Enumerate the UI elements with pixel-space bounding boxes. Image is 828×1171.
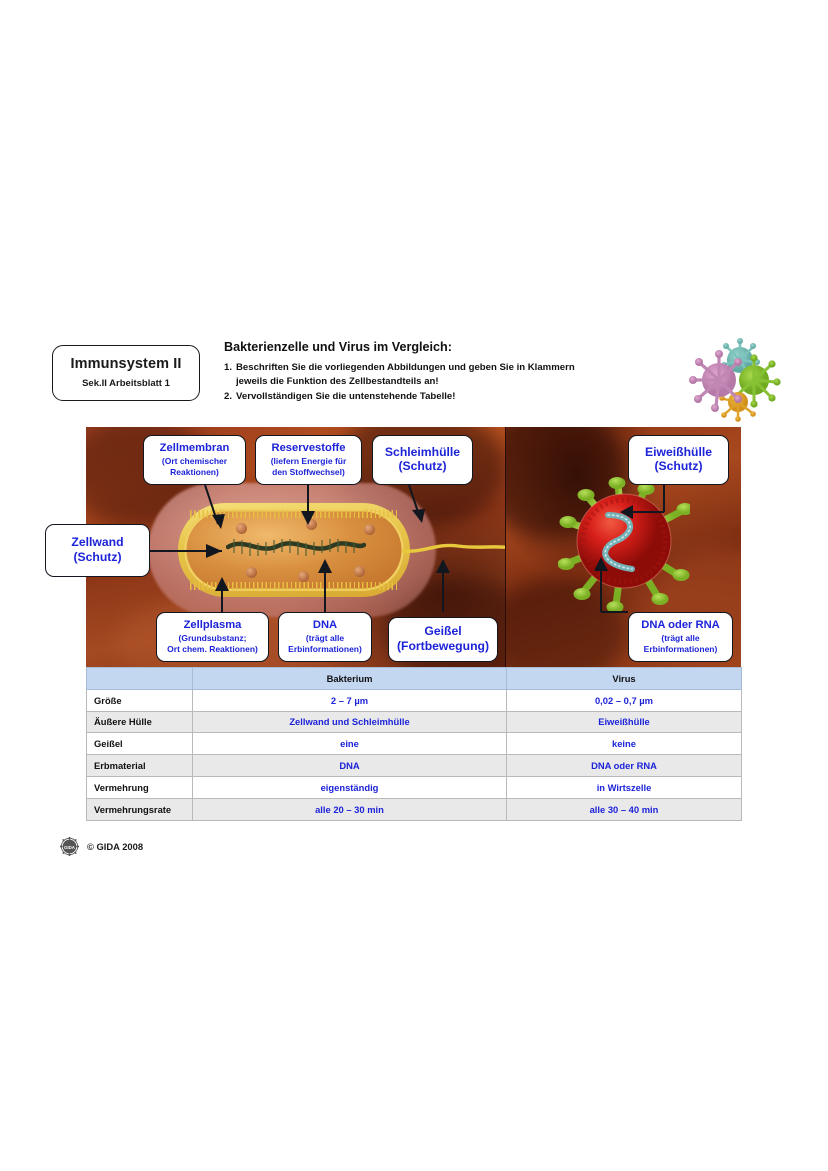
callout-zellmembran-sub1: (Ort chemischer: [162, 456, 227, 467]
cell-bakterium: DNA: [193, 755, 507, 777]
svg-text:GIDA: GIDA: [64, 845, 76, 850]
gida-gear-logo-icon: GIDA: [60, 837, 79, 856]
instruction-text-1a: Beschriften Sie die vorliegenden Abbildu…: [236, 362, 575, 373]
row-label: Vermehrung: [87, 776, 193, 798]
instruction-text-2a: Vervollständigen Sie die untenstehende T…: [236, 391, 455, 402]
reserve-granule: [364, 524, 375, 535]
reserve-granule: [306, 519, 317, 530]
title-badge: Immunsystem II Sek.II Arbeitsblatt 1: [52, 345, 200, 401]
callout-zellmembran-sub2: Reaktionen): [170, 467, 219, 478]
cell-virus: alle 30 – 40 min: [507, 798, 742, 820]
callout-eiweisshuelle-title: Eiweißhülle: [645, 445, 712, 459]
callout-dna-oder-rna-sub1: (trägt alle: [661, 633, 699, 644]
callout-dna-sub1: (trägt alle: [306, 633, 344, 644]
row-label: Größe: [87, 689, 193, 711]
comparison-table: Bakterium Virus Größe 2 – 7 µm 0,02 – 0,…: [86, 667, 742, 821]
callout-geissel-sub: (Fortbewegung): [397, 639, 489, 655]
callout-dna-title: DNA: [313, 619, 337, 632]
cell-bakterium: 2 – 7 µm: [193, 689, 507, 711]
cell-virus: in Wirtszelle: [507, 776, 742, 798]
cell-virus: Eiweißhülle: [507, 711, 742, 733]
callout-reservestoffe-sub1: (liefern Energie für: [271, 456, 347, 467]
instructions-list: 1. Beschriften Sie die vorliegenden Abbi…: [224, 361, 674, 404]
callout-zellwand[interactable]: Zellwand (Schutz): [45, 524, 150, 577]
table-body: Größe 2 – 7 µm 0,02 – 0,7 µm Äußere Hüll…: [87, 689, 742, 820]
virus-particle-shape: [558, 471, 690, 611]
callout-dna-oder-rna-title: DNA oder RNA: [641, 619, 720, 632]
membrane-fringe-top: [190, 510, 398, 518]
cell-bakterium: eigenständig: [193, 776, 507, 798]
bacterial-dna-shape: [226, 535, 366, 557]
callout-dna-sub2: Erbinformationen): [288, 644, 362, 655]
virus-cluster-icon: [688, 334, 782, 422]
callout-geissel-title: Geißel: [424, 624, 461, 638]
callout-reservestoffe[interactable]: Reservestoffe (liefern Energie für den S…: [255, 435, 362, 485]
membrane-fringe-bottom: [190, 582, 398, 590]
reserve-granule: [354, 566, 365, 577]
callout-zellplasma-title: Zellplasma: [184, 619, 242, 632]
table-header-virus: Virus: [507, 668, 742, 690]
reserve-granule: [236, 523, 247, 534]
instructions-block: Bakterienzelle und Virus im Vergleich: 1…: [224, 340, 674, 405]
callout-zellmembran-title: Zellmembran: [160, 442, 230, 455]
instruction-number-1: 1.: [224, 361, 232, 375]
footer: GIDA © GIDA 2008: [60, 837, 143, 856]
flagellum-shape: [402, 539, 505, 559]
cell-bakterium: eine: [193, 733, 507, 755]
callout-schleimhuelle-sub: (Schutz): [398, 459, 446, 475]
table-row: Größe 2 – 7 µm 0,02 – 0,7 µm: [87, 689, 742, 711]
callout-zellwand-title: Zellwand: [71, 535, 123, 549]
instruction-number-2: 2.: [224, 390, 232, 404]
callout-zellplasma-sub1: (Grundsubstanz;: [179, 633, 247, 644]
callout-eiweisshuelle-sub: (Schutz): [654, 459, 702, 475]
table-row: Geißel eine keine: [87, 733, 742, 755]
instruction-item-2: 2. Vervollständigen Sie die untenstehend…: [224, 390, 674, 404]
worksheet-subtitle: Sek.II Arbeitsblatt 1: [82, 379, 170, 389]
header: Immunsystem II Sek.II Arbeitsblatt 1 Bak…: [52, 340, 792, 420]
table-header-bakterium: Bakterium: [193, 668, 507, 690]
table-row: Äußere Hülle Zellwand und Schleimhülle E…: [87, 711, 742, 733]
instruction-text-1b: jeweils die Funktion des Zellbestandteil…: [236, 375, 674, 389]
cell-virus: 0,02 – 0,7 µm: [507, 689, 742, 711]
callout-eiweisshuelle[interactable]: Eiweißhülle (Schutz): [628, 435, 729, 485]
callout-reservestoffe-sub2: den Stoffwechsel): [272, 467, 345, 478]
reserve-granule: [298, 571, 309, 582]
worksheet-page: Immunsystem II Sek.II Arbeitsblatt 1 Bak…: [0, 0, 828, 1171]
table-header-row: Bakterium Virus: [87, 668, 742, 690]
callout-zellwand-sub: (Schutz): [73, 550, 121, 566]
table-row: Vermehrung eigenständig in Wirtszelle: [87, 776, 742, 798]
callout-zellplasma-sub2: Ort chem. Reaktionen): [167, 644, 258, 655]
callout-reservestoffe-title: Reservestoffe: [272, 442, 346, 455]
callout-schleimhuelle[interactable]: Schleimhülle (Schutz): [372, 435, 473, 485]
row-label: Vermehrungsrate: [87, 798, 193, 820]
instructions-heading: Bakterienzelle und Virus im Vergleich:: [224, 340, 674, 355]
table-row: Vermehrungsrate alle 20 – 30 min alle 30…: [87, 798, 742, 820]
table-header-blank: [87, 668, 193, 690]
cell-bakterium: Zellwand und Schleimhülle: [193, 711, 507, 733]
cell-bakterium: alle 20 – 30 min: [193, 798, 507, 820]
callout-geissel[interactable]: Geißel (Fortbewegung): [388, 617, 498, 662]
callout-zellmembran[interactable]: Zellmembran (Ort chemischer Reaktionen): [143, 435, 246, 485]
reserve-granule: [246, 567, 257, 578]
cell-virus: DNA oder RNA: [507, 755, 742, 777]
callout-dna[interactable]: DNA (trägt alle Erbinformationen): [278, 612, 372, 662]
table-row: Erbmaterial DNA DNA oder RNA: [87, 755, 742, 777]
row-label: Geißel: [87, 733, 193, 755]
callout-dna-oder-rna-sub2: Erbinformationen): [644, 644, 718, 655]
row-label: Äußere Hülle: [87, 711, 193, 733]
row-label: Erbmaterial: [87, 755, 193, 777]
callout-dna-oder-rna[interactable]: DNA oder RNA (trägt alle Erbinformatione…: [628, 612, 733, 662]
copyright-text: © GIDA 2008: [87, 841, 143, 852]
instruction-item-1: 1. Beschriften Sie die vorliegenden Abbi…: [224, 361, 674, 389]
cell-virus: keine: [507, 733, 742, 755]
callout-schleimhuelle-title: Schleimhülle: [385, 445, 460, 459]
callout-zellplasma[interactable]: Zellplasma (Grundsubstanz; Ort chem. Rea…: [156, 612, 269, 662]
worksheet-title: Immunsystem II: [71, 357, 182, 373]
panel-divider: [505, 427, 506, 667]
